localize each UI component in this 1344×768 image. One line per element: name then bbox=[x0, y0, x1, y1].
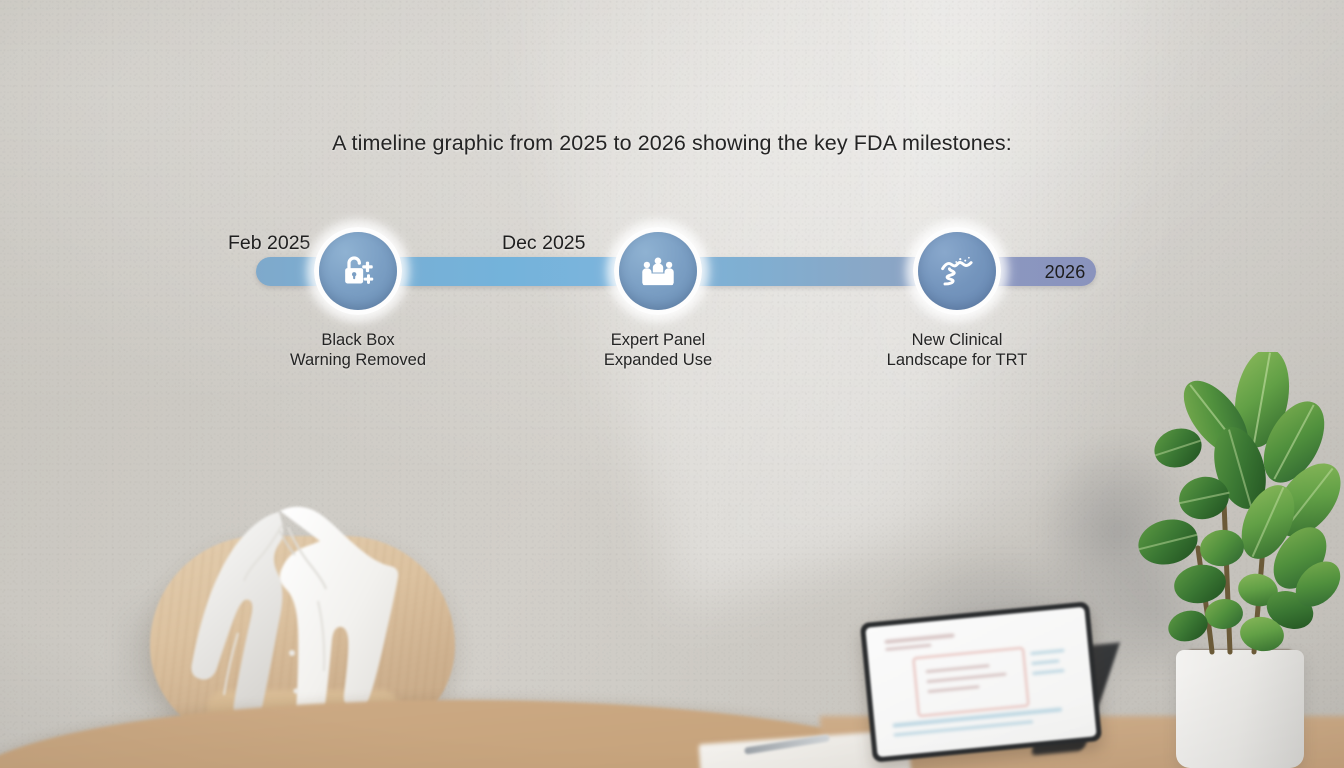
scene-vignette bbox=[0, 0, 1344, 768]
office-scene: A timeline graphic from 2025 to 2026 sho… bbox=[0, 0, 1344, 768]
